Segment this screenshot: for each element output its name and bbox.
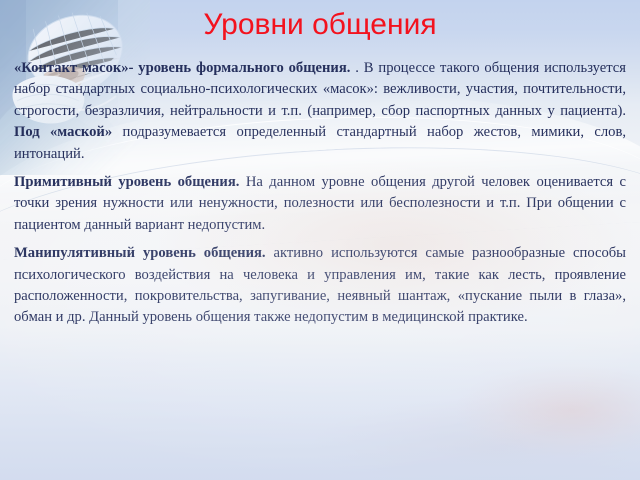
- slide-body: «Контакт масок»- уровень формального общ…: [14, 58, 626, 329]
- background-blush: [410, 350, 640, 470]
- paragraph-lead-1: «Контакт масок»- уровень формального общ…: [14, 60, 350, 76]
- paragraph-lead-2: Примитивный уровень общения.: [14, 174, 239, 190]
- paragraph-lead-1b: Под «маской»: [14, 124, 112, 140]
- paragraph-contact-masok: «Контакт масок»- уровень формального общ…: [14, 58, 626, 165]
- presentation-slide: Уровни общения «Контакт масок»- уровень …: [0, 0, 640, 480]
- background-lower-wash: [0, 330, 640, 480]
- paragraph-primitivny-uroven: Примитивный уровень общения. На данном у…: [14, 172, 626, 236]
- page-title: Уровни общения: [0, 6, 640, 44]
- paragraph-lead-3: Манипулятивный уровень общения.: [14, 245, 266, 261]
- paragraph-manipulyativny-uroven: Манипулятивный уровень общения. активно …: [14, 243, 626, 329]
